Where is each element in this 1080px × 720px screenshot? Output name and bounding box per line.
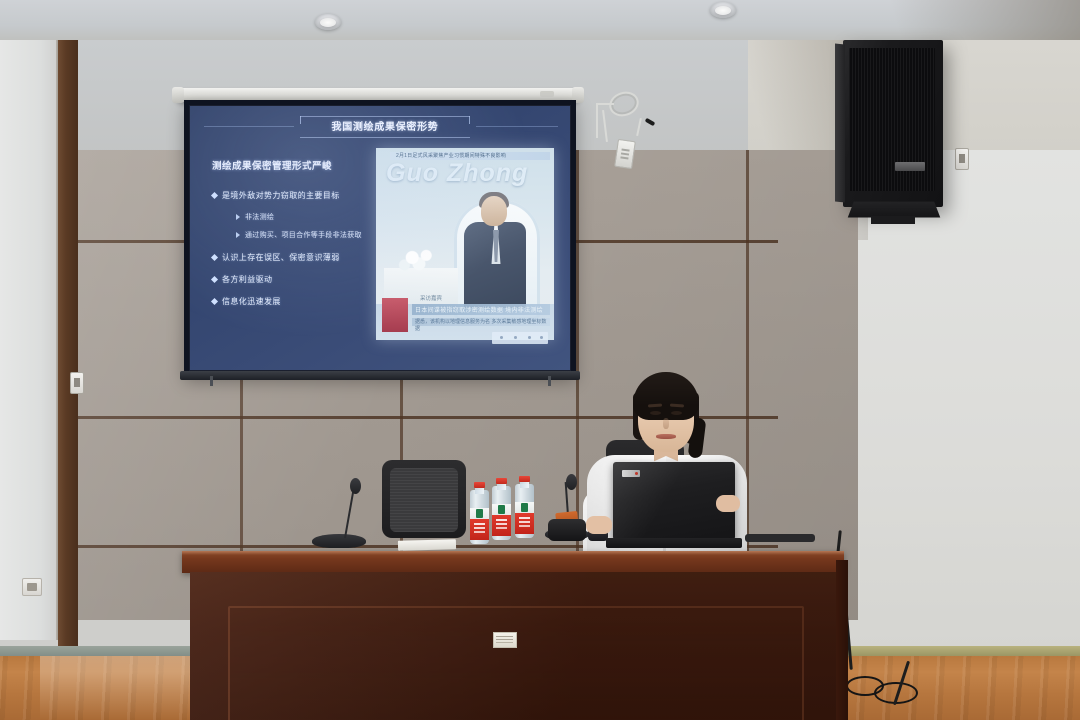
bottle-cap (519, 476, 530, 482)
laptop-base[interactable] (606, 538, 742, 548)
ceiling-downlight-icon (315, 14, 341, 30)
podium-side (836, 560, 848, 720)
microphone-head-icon (350, 478, 361, 494)
screen-border (184, 100, 576, 376)
ceiling-downlight-icon (710, 2, 736, 18)
water-bottle[interactable] (492, 478, 511, 540)
screen-weight-bar[interactable] (180, 371, 580, 380)
presenter-eye (671, 411, 682, 415)
presenter-mouth (656, 434, 676, 439)
presenter-hand (586, 516, 612, 534)
bottle-cap (474, 482, 485, 488)
speaker-badge (895, 162, 925, 171)
housing-end-cap (172, 87, 184, 103)
left-pillar (0, 40, 58, 640)
presenter-eye (650, 411, 661, 415)
speaker-side (835, 43, 845, 202)
power-adapter-icon (614, 139, 636, 169)
wood-trim-column (58, 40, 78, 650)
cable (596, 104, 598, 138)
asset-label-sticker (493, 632, 517, 648)
thinkpad-logo-icon (622, 470, 640, 477)
wall-speaker (843, 40, 943, 207)
wall-switch-plate-icon[interactable] (70, 372, 84, 394)
chair-mesh-back (390, 468, 458, 532)
presenter-nose (663, 418, 669, 429)
podium-desktop-highlight (182, 551, 844, 555)
bottle-cap (496, 478, 507, 484)
cable-bundle (745, 534, 815, 542)
office-chair[interactable] (382, 460, 466, 538)
cable (596, 103, 614, 105)
microphone-base[interactable] (312, 534, 366, 548)
microphone-head-icon (566, 474, 577, 490)
speaker-bracket (871, 216, 915, 224)
housing-knob (540, 91, 554, 97)
conference-room-photo: 我国测绘成果保密形势 测绘成果保密管理形式严峻 是境外敌对势力窃取的主要目标 非… (0, 0, 1080, 720)
paper-sheet[interactable] (398, 539, 456, 551)
power-outlet-icon[interactable] (22, 578, 42, 596)
water-bottle[interactable] (470, 482, 489, 544)
presenter-hand (716, 495, 740, 512)
desk-device[interactable] (548, 519, 586, 541)
water-bottle[interactable] (515, 476, 534, 538)
wall-sensor-icon (955, 148, 969, 170)
